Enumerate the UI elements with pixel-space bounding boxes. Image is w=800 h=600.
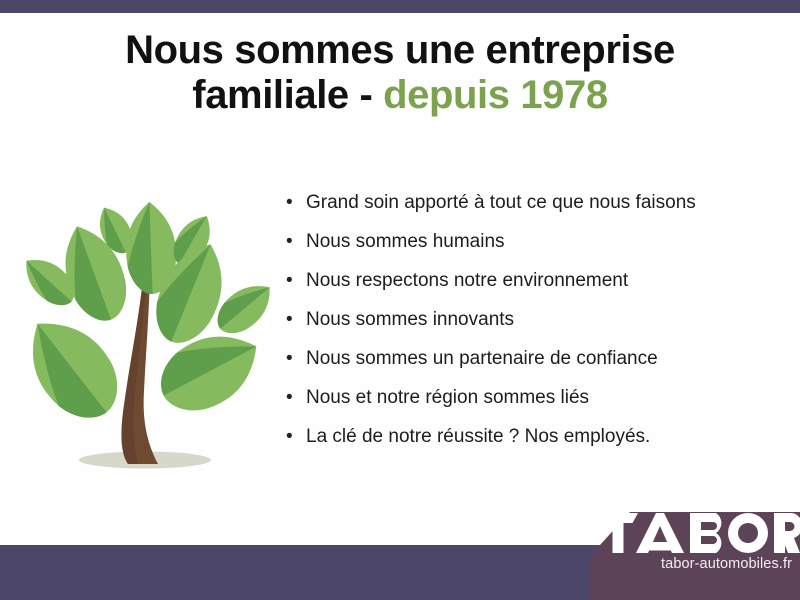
tabor-wordmark-icon xyxy=(598,511,800,555)
page-title: Nous sommes une entreprise familiale - d… xyxy=(0,28,800,118)
list-item-label: Nous sommes innovants xyxy=(306,307,514,333)
list-item-label: Nous et notre région sommes liés xyxy=(306,385,589,411)
list-item: • Nous respectons notre environnement xyxy=(286,268,766,307)
title-line-2: familiale - depuis 1978 xyxy=(0,73,800,118)
bullet-marker-icon: • xyxy=(286,268,306,294)
list-item: • Nous et notre région sommes liés xyxy=(286,385,766,424)
tree-svg xyxy=(18,183,272,483)
bullet-marker-icon: • xyxy=(286,385,306,411)
brand-logo[interactable]: tabor-automobiles.fr xyxy=(552,504,800,600)
bullet-marker-icon: • xyxy=(286,346,306,372)
bullet-marker-icon: • xyxy=(286,190,306,216)
title-line-1: Nous sommes une entreprise xyxy=(0,28,800,73)
title-accent-since-1978: depuis 1978 xyxy=(383,73,608,117)
bullet-marker-icon: • xyxy=(286,307,306,333)
list-item: • Nous sommes humains xyxy=(286,229,766,268)
value-bullet-list: • Grand soin apporté à tout ce que nous … xyxy=(286,190,766,463)
list-item: • Nous sommes un partenaire de confiance xyxy=(286,346,766,385)
list-item-label: Nous sommes humains xyxy=(306,229,505,255)
list-item-label: Nous respectons notre environnement xyxy=(306,268,628,294)
title-line-2-plain: familiale - xyxy=(192,73,383,117)
bullet-marker-icon: • xyxy=(286,424,306,450)
list-item: • La clé de notre réussite ? Nos employé… xyxy=(286,424,766,463)
list-item: • Grand soin apporté à tout ce que nous … xyxy=(286,190,766,229)
slide-canvas: Nous sommes une entreprise familiale - d… xyxy=(0,0,800,600)
top-brand-band xyxy=(0,0,800,13)
logo-tagline: tabor-automobiles.fr xyxy=(552,556,800,572)
bullet-marker-icon: • xyxy=(286,229,306,255)
tree-illustration xyxy=(18,183,272,483)
list-item: • Nous sommes innovants xyxy=(286,307,766,346)
list-item-label: Nous sommes un partenaire de confiance xyxy=(306,346,658,372)
list-item-label: Grand soin apporté à tout ce que nous fa… xyxy=(306,190,696,216)
list-item-label: La clé de notre réussite ? Nos employés. xyxy=(306,424,650,450)
